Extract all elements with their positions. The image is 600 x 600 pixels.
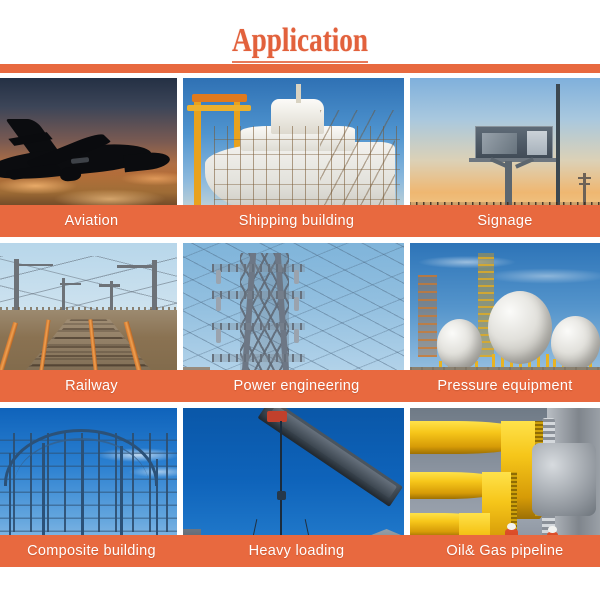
page-title: Application xyxy=(232,24,368,63)
billboard-dusk-icon xyxy=(410,78,600,237)
grid-row: Composite building Heavy loading Oil& Ga… xyxy=(0,408,600,567)
grid-row-images xyxy=(0,78,600,237)
application-cell-railway[interactable] xyxy=(0,243,177,402)
transmission-pylon-icon xyxy=(183,243,404,402)
header-divider-bar xyxy=(0,64,600,73)
application-cell-pressure-equipment[interactable] xyxy=(410,243,600,402)
application-grid: Aviation Shipping building Signage xyxy=(0,78,600,565)
application-cell-power-engineering[interactable] xyxy=(183,243,404,402)
crane-lifting-beam-icon xyxy=(183,408,404,567)
application-page: Application xyxy=(0,0,600,600)
application-cell-composite-building[interactable] xyxy=(0,408,177,567)
application-cell-heavy-loading[interactable] xyxy=(183,408,404,567)
yellow-gas-pipeline-icon xyxy=(410,408,600,567)
airplane-sunset-icon xyxy=(0,78,177,237)
application-cell-shipping-building[interactable] xyxy=(183,78,404,237)
grid-row: Aviation Shipping building Signage xyxy=(0,78,600,237)
application-cell-signage[interactable] xyxy=(410,78,600,237)
application-cell-oil-gas-pipeline[interactable] xyxy=(410,408,600,567)
grid-row-images xyxy=(0,243,600,402)
steel-frame-building-icon xyxy=(0,408,177,567)
shipyard-vessel-icon xyxy=(183,78,404,237)
railway-tracks-icon xyxy=(0,243,177,402)
application-cell-aviation[interactable] xyxy=(0,78,177,237)
spherical-tanks-icon xyxy=(410,243,600,402)
page-header: Application xyxy=(0,0,600,63)
grid-row: Railway Power engineering Pressure equip… xyxy=(0,243,600,402)
grid-row-images xyxy=(0,408,600,567)
